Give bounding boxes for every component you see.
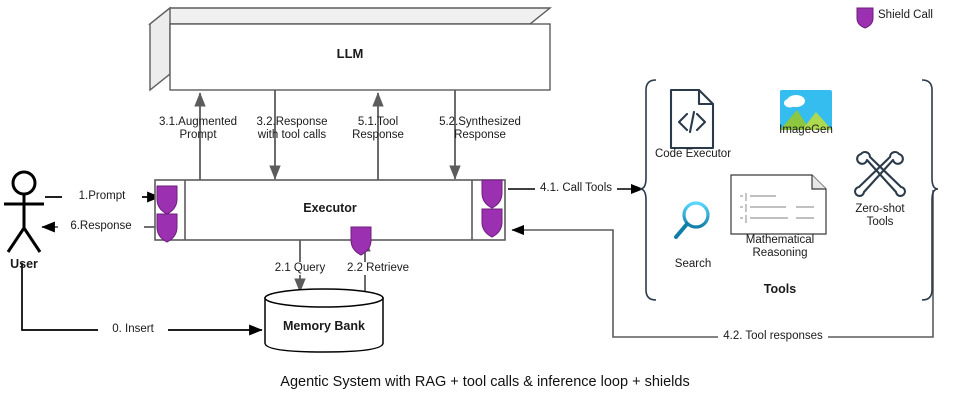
math-document-icon (730, 174, 828, 236)
tool-zero-shot[interactable] (852, 148, 908, 207)
shield-memory (351, 227, 371, 255)
tool-search[interactable] (672, 200, 714, 249)
tools-group-brace-right (920, 78, 944, 303)
tool-imagegen-label: ImageGen (764, 124, 848, 137)
tool-math-reasoning[interactable] (730, 174, 828, 241)
legend-shield-call (856, 6, 874, 33)
legend-shield-call-label: Shield Call (878, 9, 968, 22)
tool-search-label: Search (660, 258, 726, 271)
search-icon (672, 200, 714, 244)
shield-output (157, 214, 177, 242)
shield-tool-call (482, 180, 502, 208)
diagram-caption: Agentic System with RAG + tool calls & i… (0, 376, 970, 389)
tool-math-reasoning-label: Mathematical Reasoning (728, 234, 832, 260)
tools-title: Tools (730, 283, 830, 296)
shield-tool-response (482, 209, 502, 237)
tool-code-executor-label: Code Executor (645, 148, 741, 161)
shield-icon (856, 6, 874, 28)
memory-bank-label: Memory Bank (264, 320, 384, 333)
shield-input (157, 186, 177, 214)
crossed-wrenches-icon (852, 148, 908, 202)
tool-zero-shot-label: Zero-shot Tools (840, 203, 920, 229)
code-executor-icon (668, 88, 716, 150)
tool-code-executor[interactable] (668, 88, 716, 155)
